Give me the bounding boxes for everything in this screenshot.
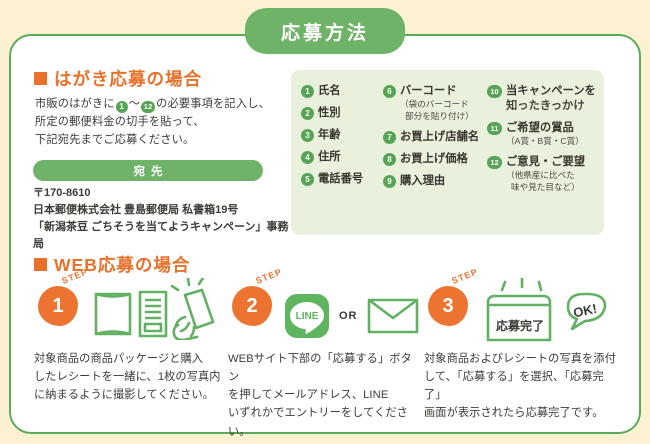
item-number: 6 bbox=[383, 85, 396, 98]
inline-number-12: 12 bbox=[141, 101, 155, 113]
step-2-number-badge: 2 bbox=[232, 286, 272, 326]
inline-number-1: 1 bbox=[116, 101, 128, 113]
required-items-panel: 1 氏名 2 性別 3 年齢 4 住所 5 電話番号 6 bbox=[291, 70, 604, 235]
list-item: 3 年齢 bbox=[301, 128, 385, 142]
address-label-pill: 宛先 bbox=[33, 160, 263, 181]
list-item: 8 お買上げ価格 bbox=[383, 152, 499, 166]
list-item: 5 電話番号 bbox=[301, 172, 385, 186]
step-1-icons bbox=[90, 278, 220, 342]
address-street: 日本郵便株式会社 豊島郵便局 私書箱19号 bbox=[33, 202, 298, 219]
postcard-desc-line4: 下記宛先までご応募ください。 bbox=[35, 134, 194, 146]
ok-label: OK! bbox=[572, 301, 598, 321]
step-3-icons: 応募完了 OK! bbox=[480, 278, 614, 342]
item-sublabel-2: 味や見た目など） bbox=[506, 182, 585, 193]
postcard-description: 市販のはがきに1〜12の必要事項を記入し、 所定の郵便料金の切手を貼って、 下記… bbox=[35, 95, 285, 149]
item-number: 3 bbox=[301, 129, 314, 142]
line-icon-label: LINE bbox=[296, 311, 319, 322]
step-2-graphic: 2 STEP LINE OR bbox=[228, 272, 418, 344]
square-bullet-icon bbox=[34, 258, 47, 271]
step-2-description: WEBサイト下部の「応募する」ボタン を押してメールアドレス、LINE いずれか… bbox=[228, 350, 418, 441]
receipt-icon bbox=[140, 292, 166, 336]
campaign-instructions-page: 応募方法 はがき応募の場合 市販のはがきに1〜12の必要事項を記入し、 所定の郵… bbox=[0, 0, 650, 444]
item-number: 12 bbox=[487, 156, 502, 169]
step-2-number: 2 bbox=[246, 296, 257, 316]
section-heading-postcard-label: はがき応募の場合 bbox=[54, 66, 202, 91]
web-step-1: 1 STEP bbox=[34, 272, 224, 404]
step-2-text-line1: WEBサイト下部の「応募する」ボタン bbox=[228, 353, 412, 383]
postcard-desc-part1: 市販のはがきに bbox=[35, 98, 115, 110]
item-label-main: バーコード bbox=[400, 85, 457, 97]
item-label-cont: 知ったきっかけ bbox=[506, 99, 596, 113]
step-3-graphic: 3 STEP 応募完了 OK! bbox=[424, 272, 620, 344]
list-item: 11 ご希望の賞品 （A賞・B賞・C賞） bbox=[487, 121, 599, 147]
step-3-text-line3: 画面が表示されたら応募完了です。 bbox=[424, 407, 603, 419]
list-item: 1 氏名 bbox=[301, 84, 385, 98]
item-label: ご意見・ご要望 （他県産に比べた 味や見た目など） bbox=[506, 155, 585, 193]
hand-holding-phone-icon bbox=[172, 278, 213, 340]
items-column-3: 10 当キャンペーンを 知ったきっかけ 11 ご希望の賞品 （A賞・B賞・C賞）… bbox=[487, 84, 599, 201]
step-3-description: 対象商品およびレシートの写真を添付 して、「応募する」を選択、「応募完了」 画面… bbox=[424, 350, 620, 423]
item-sublabel-1: （A賞・B賞・C賞） bbox=[506, 136, 584, 147]
address-postal-code: 〒170-8610 bbox=[33, 185, 298, 202]
step-1-graphic: 1 STEP bbox=[34, 272, 224, 344]
item-number: 8 bbox=[383, 153, 396, 166]
item-number: 10 bbox=[487, 85, 502, 98]
item-number: 5 bbox=[301, 173, 314, 186]
step-1-description: 対象商品の商品パッケージと購入 したレシートを一緒に、1枚の写真内 に納まるよう… bbox=[34, 350, 224, 404]
page-title: 応募方法 bbox=[281, 18, 369, 45]
items-column-1: 1 氏名 2 性別 3 年齢 4 住所 5 電話番号 bbox=[301, 84, 385, 195]
item-number: 9 bbox=[383, 175, 396, 188]
step-1-number-badge: 1 bbox=[38, 286, 78, 326]
page-title-badge: 応募方法 bbox=[245, 8, 405, 54]
or-label: OR bbox=[339, 310, 358, 322]
item-label: 年齢 bbox=[318, 128, 341, 142]
address-label: 宛先 bbox=[128, 163, 169, 179]
item-number: 7 bbox=[383, 131, 396, 144]
item-label: 住所 bbox=[318, 150, 341, 164]
step-3-text-line1: 対象商品およびレシートの写真を添付 bbox=[424, 353, 616, 365]
step-2-icons: LINE OR bbox=[284, 284, 419, 348]
items-column-2: 6 バーコード （袋のバーコード 部分を貼り付け） 7 お買上げ店舗名 8 お買… bbox=[383, 84, 499, 196]
item-number: 4 bbox=[301, 151, 314, 164]
line-app-icon: LINE bbox=[284, 293, 330, 339]
list-item: 10 当キャンペーンを 知ったきっかけ bbox=[487, 84, 599, 113]
postcard-desc-sep: 〜 bbox=[129, 98, 140, 110]
item-label: 氏名 bbox=[318, 84, 341, 98]
step-2-text-line2: を押してメールアドレス、LINE bbox=[228, 389, 388, 401]
item-label: 電話番号 bbox=[318, 172, 363, 186]
section-heading-postcard: はがき応募の場合 bbox=[34, 66, 202, 91]
item-sublabel-1: （他県産に比べた bbox=[506, 170, 585, 181]
step-2-text-line3: いずれかでエントリーをしてください。 bbox=[228, 407, 408, 437]
ok-speech-bubble-icon: OK! bbox=[568, 294, 605, 329]
item-sublabel-2: 部分を貼り付け） bbox=[400, 111, 474, 122]
item-label: お買上げ価格 bbox=[400, 152, 468, 166]
address-office: 「新潟茶豆 ごちそうを当てようキャンペーン」事務局 bbox=[33, 219, 298, 253]
postcard-desc-part2: の必要事項を記入し、 bbox=[156, 98, 270, 110]
web-step-3: 3 STEP 応募完了 OK! 対象商 bbox=[424, 272, 620, 423]
list-item: 9 購入理由 bbox=[383, 174, 499, 188]
phone-screen-label: 応募完了 bbox=[496, 318, 544, 333]
step-3-text-line2: して、「応募する」を選択、「応募完了」 bbox=[424, 371, 604, 401]
item-number: 1 bbox=[301, 85, 314, 98]
item-sublabel-1: （袋のバーコード bbox=[400, 99, 474, 110]
phone-complete-screen-icon: 応募完了 bbox=[488, 278, 551, 340]
product-package-icon bbox=[96, 294, 130, 334]
step-1-text-line3: に納まるように撮影してください。 bbox=[34, 389, 214, 401]
list-item: 6 バーコード （袋のバーコード 部分を貼り付け） bbox=[383, 84, 499, 122]
item-label: 購入理由 bbox=[400, 174, 445, 188]
list-item: 4 住所 bbox=[301, 150, 385, 164]
address-block: 〒170-8610 日本郵便株式会社 豊島郵便局 私書箱19号 「新潟茶豆 ごち… bbox=[33, 185, 298, 253]
list-item: 2 性別 bbox=[301, 106, 385, 120]
square-bullet-icon bbox=[34, 72, 47, 85]
web-step-2: 2 STEP LINE OR WEBサイト下部の「応募する」ボタン を押してメー… bbox=[228, 272, 418, 441]
step-1-text-line2: したレシートを一緒に、1枚の写真内 bbox=[34, 371, 221, 383]
item-label: 性別 bbox=[318, 106, 341, 120]
step-3-number-badge: 3 bbox=[428, 286, 468, 326]
item-label-main: ご希望の賞品 bbox=[506, 122, 574, 134]
item-label: 当キャンペーンを 知ったきっかけ bbox=[506, 84, 596, 113]
list-item: 7 お買上げ店舗名 bbox=[383, 130, 499, 144]
step-3-number: 3 bbox=[442, 296, 453, 316]
item-number: 11 bbox=[487, 122, 502, 135]
item-label-main: 当キャンペーンを bbox=[506, 85, 596, 97]
postcard-desc-line3: 所定の郵便料金の切手を貼って、 bbox=[35, 116, 205, 128]
email-envelope-icon bbox=[367, 296, 419, 336]
item-label-main: ご意見・ご要望 bbox=[506, 156, 585, 168]
step-1-text-line1: 対象商品の商品パッケージと購入 bbox=[34, 353, 203, 365]
item-label: お買上げ店舗名 bbox=[400, 130, 479, 144]
item-number: 2 bbox=[301, 107, 314, 120]
step-1-number: 1 bbox=[52, 296, 63, 316]
item-label: ご希望の賞品 （A賞・B賞・C賞） bbox=[506, 121, 584, 147]
item-label: バーコード （袋のバーコード 部分を貼り付け） bbox=[400, 84, 474, 122]
list-item: 12 ご意見・ご要望 （他県産に比べた 味や見た目など） bbox=[487, 155, 599, 193]
